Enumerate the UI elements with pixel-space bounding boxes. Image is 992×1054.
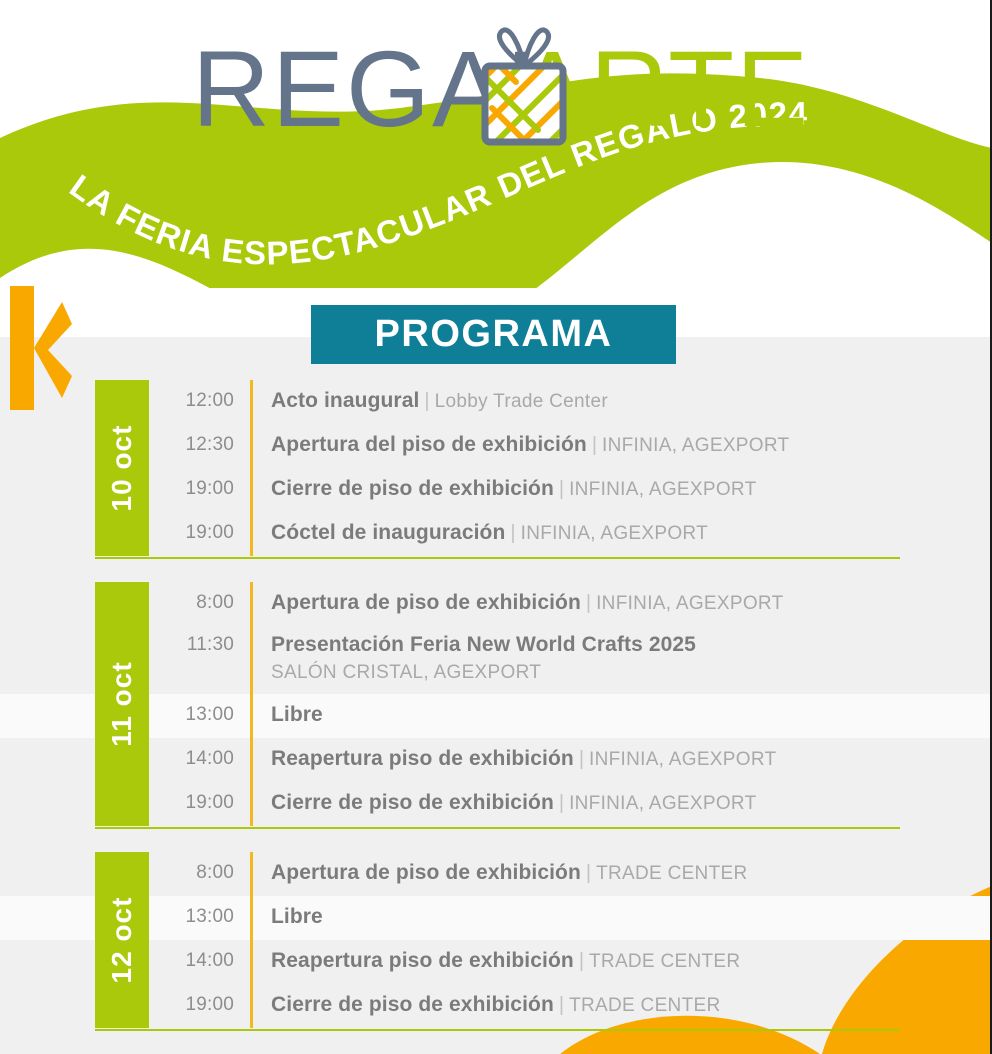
column-divider [250, 852, 253, 1028]
row-title: Cóctel de inauguración [271, 521, 505, 544]
row-body: Libre [250, 696, 992, 736]
day-label-bar: 11 oct [95, 582, 149, 826]
column-divider [250, 380, 253, 556]
row-body: Apertura de piso de exhibición|TRADE CEN… [250, 854, 992, 894]
day-bottom-rule [95, 1029, 900, 1031]
row-venue: INFINIA, AGEXPORT [589, 749, 776, 770]
row-body: Reapertura piso de exhibición|INFINIA, A… [250, 740, 992, 780]
row-venue: INFINIA, AGEXPORT [569, 793, 756, 814]
day-label: 11 oct [106, 661, 138, 746]
row-separator: | [581, 592, 596, 614]
programa-title: PROGRAMA [375, 313, 613, 356]
row-body: Apertura del piso de exhibición|INFINIA,… [250, 426, 992, 466]
day-label-bar: 10 oct [95, 380, 149, 556]
row-venue: TRADE CENTER [596, 863, 747, 884]
row-body: Libre [250, 898, 992, 938]
row-separator: | [554, 478, 569, 500]
row-body: Cierre de piso de exhibición|TRADE CENTE… [250, 986, 992, 1026]
row-venue-secondary: SALÓN CRISTAL, AGEXPORT [271, 658, 992, 688]
row-body: Cóctel de inauguración|INFINIA, AGEXPORT [250, 514, 992, 554]
row-venue: INFINIA, AGEXPORT [569, 479, 756, 500]
day-label-bar: 12 oct [95, 852, 149, 1028]
row-body: Acto inaugural|Lobby Trade Center [250, 382, 992, 422]
row-separator: | [574, 748, 589, 770]
row-venue: INFINIA, AGEXPORT [521, 523, 708, 544]
row-separator: | [554, 792, 569, 814]
day-rows: 8:00Apertura de piso de exhibición|INFIN… [0, 582, 992, 826]
row-venue: INFINIA, AGEXPORT [602, 435, 789, 456]
day-bottom-rule [95, 827, 900, 829]
regalarte-logo: REGAL ARTE [186, 22, 806, 152]
day-bottom-rule [95, 557, 900, 559]
programa-banner: PROGRAMA [311, 305, 676, 364]
row-venue: INFINIA, AGEXPORT [596, 593, 783, 614]
row-body: Reapertura piso de exhibición|TRADE CENT… [250, 942, 992, 982]
row-title: Libre [271, 905, 323, 928]
row-title: Acto inaugural [271, 389, 419, 412]
poster-canvas: LA FERIA ESPECTACULAR DEL REGALO 2024 RE… [0, 0, 992, 1054]
row-body: Apertura de piso de exhibición|INFINIA, … [250, 584, 992, 624]
row-body: Cierre de piso de exhibición|INFINIA, AG… [250, 470, 992, 510]
row-title: Apertura de piso de exhibición [271, 591, 581, 614]
row-title: Reapertura piso de exhibición [271, 747, 574, 770]
row-separator: | [554, 994, 569, 1016]
row-separator: | [581, 862, 596, 884]
row-separator: | [574, 950, 589, 972]
row-title: Cierre de piso de exhibición [271, 791, 554, 814]
day-rows: 8:00Apertura de piso de exhibición|TRADE… [0, 852, 992, 1028]
row-title: Cierre de piso de exhibición [271, 993, 554, 1016]
row-title: Reapertura piso de exhibición [271, 949, 574, 972]
row-title: Cierre de piso de exhibición [271, 477, 554, 500]
day-label: 10 oct [106, 425, 138, 512]
row-venue: Lobby Trade Center [435, 391, 608, 412]
day-block: 8:00Apertura de piso de exhibición|INFIN… [0, 582, 992, 826]
row-title: Libre [271, 703, 323, 726]
row-separator: | [419, 390, 434, 412]
row-body: Presentación Feria New World Crafts 2025… [250, 628, 992, 688]
column-divider [250, 582, 253, 826]
row-body: Cierre de piso de exhibición|INFINIA, AG… [250, 784, 992, 824]
row-separator: | [505, 522, 520, 544]
schedule-list: 12:00Acto inaugural|Lobby Trade Center12… [0, 380, 992, 1054]
row-venue: TRADE CENTER [569, 995, 720, 1016]
row-title: Presentación Feria New World Crafts 2025 [271, 633, 696, 656]
row-title: Apertura de piso de exhibición [271, 861, 581, 884]
day-block: 8:00Apertura de piso de exhibición|TRADE… [0, 852, 992, 1028]
logo: REGAL ARTE [0, 22, 992, 152]
day-rows: 12:00Acto inaugural|Lobby Trade Center12… [0, 380, 992, 556]
row-venue: TRADE CENTER [589, 951, 740, 972]
day-label: 12 oct [106, 897, 138, 984]
row-title: Apertura del piso de exhibición [271, 433, 587, 456]
day-block: 12:00Acto inaugural|Lobby Trade Center12… [0, 380, 992, 556]
row-separator: | [587, 434, 602, 456]
